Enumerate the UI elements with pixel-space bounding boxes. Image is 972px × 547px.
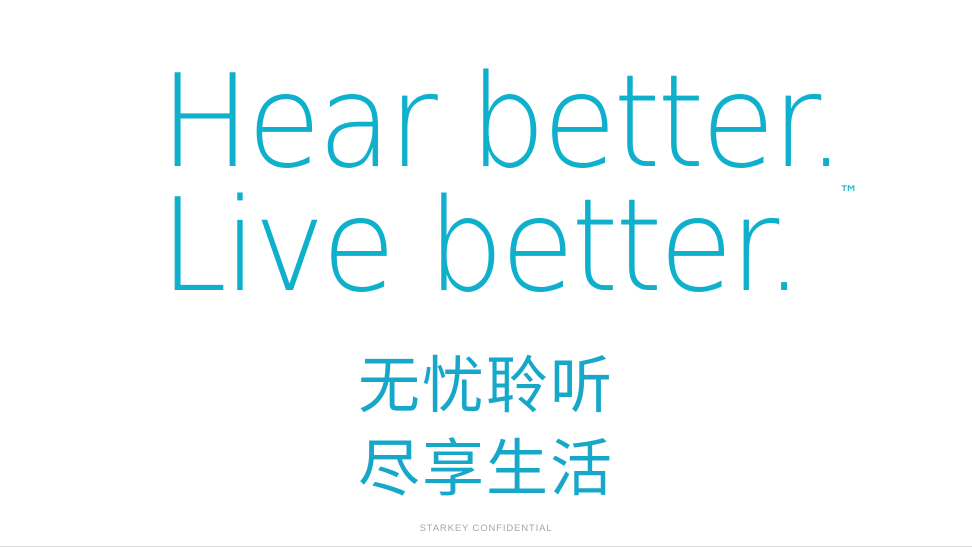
confidentiality-footer: STARKEY CONFIDENTIAL — [0, 523, 972, 534]
subhead-block: 无忧聆听 尽享生活 — [0, 344, 972, 510]
trademark-icon: ™ — [839, 184, 859, 203]
slide-canvas: Hear better. Live better.™ 无忧聆听 尽享生活 STA… — [0, 0, 972, 547]
headline-line-2-text: Live better. — [160, 186, 800, 309]
subhead-line-1: 无忧聆听 — [0, 344, 972, 427]
subhead-line-2: 尽享生活 — [0, 427, 972, 510]
headline-line-2: Live better.™ — [160, 186, 860, 310]
headline-line-1: Hear better. — [160, 62, 860, 186]
headline-block: Hear better. Live better.™ — [160, 62, 860, 310]
headline-line-1-text: Hear better. — [160, 62, 842, 185]
